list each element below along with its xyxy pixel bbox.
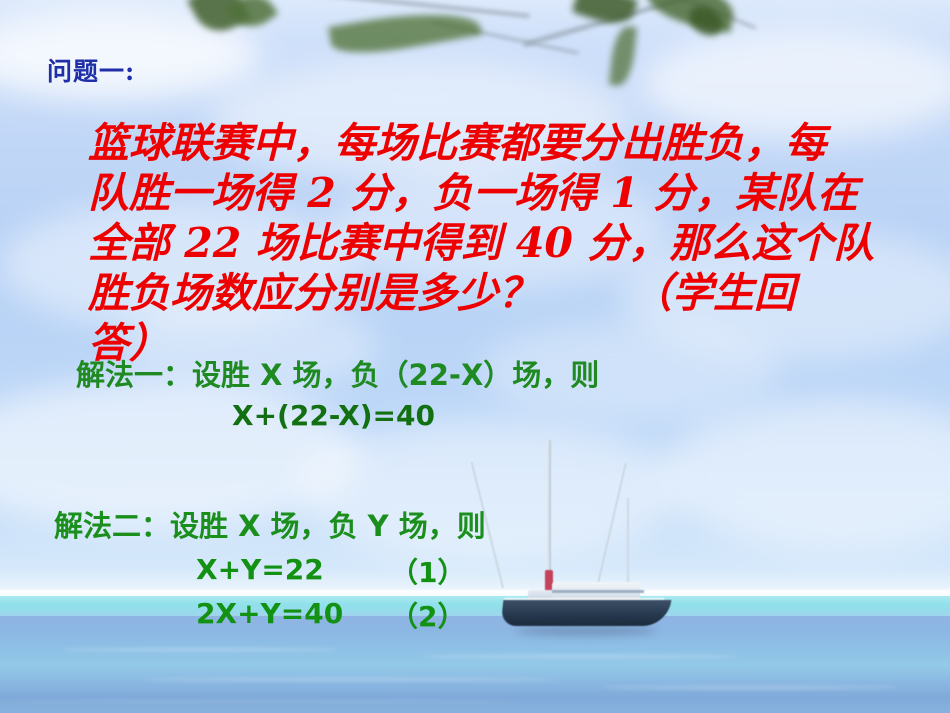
problem-line-4: 胜负场数应分别是多少？ bbox=[88, 269, 539, 317]
problem-line-3: 全部 22 场比赛中得到 40 分，那么这个队 bbox=[88, 219, 874, 267]
problem-heading: 问题一: bbox=[47, 52, 135, 88]
solution-two-equation-2-label: （2） bbox=[390, 595, 465, 635]
solution-two-equation-1-label: （1） bbox=[390, 551, 465, 591]
solution-two-equation-2: 2X+Y=40 bbox=[196, 597, 343, 630]
problem-line-2: 队胜一场得 2 分，负一场得 1 分，某队在 bbox=[88, 169, 858, 217]
solution-two-equation-1: X+Y=22 bbox=[196, 553, 324, 586]
presentation-slide: 问题一: 篮球联赛中，每场比赛都要分出胜负，每 队胜一场得 2 分，负一场得 1… bbox=[0, 0, 950, 713]
solution-one-equation: X+(22-X)=40 bbox=[232, 399, 435, 432]
solution-one-heading: 解法一：设胜 X 场，负（22-X）场，则 bbox=[76, 352, 599, 394]
solution-two-heading: 解法二：设胜 X 场，负 Y 场，则 bbox=[54, 503, 486, 545]
problem-statement: 篮球联赛中，每场比赛都要分出胜负，每 队胜一场得 2 分，负一场得 1 分，某队… bbox=[88, 118, 948, 368]
problem-line-1: 篮球联赛中，每场比赛都要分出胜负，每 bbox=[88, 119, 826, 167]
problem-line-5: （学生回 bbox=[631, 269, 795, 317]
slide-text-layer: 问题一: 篮球联赛中，每场比赛都要分出胜负，每 队胜一场得 2 分，负一场得 1… bbox=[0, 0, 950, 713]
